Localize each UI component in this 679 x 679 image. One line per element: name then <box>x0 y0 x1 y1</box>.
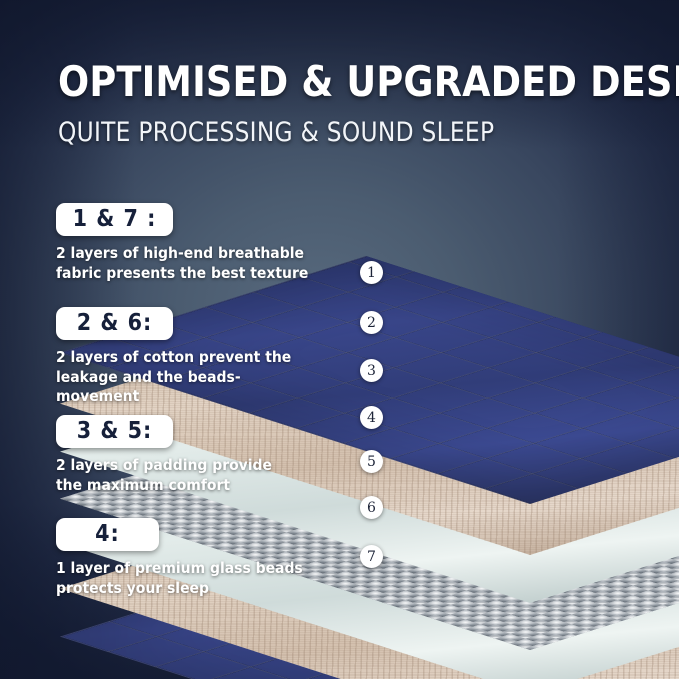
layer-badge-3: 3 <box>360 359 383 382</box>
layer-badge-5: 5 <box>360 450 383 473</box>
infographic-canvas: 1 2 3 4 5 6 7 OPTIMISED & UPGRADED DESIG… <box>0 0 679 679</box>
layer-badge-7-number: 7 <box>367 550 376 564</box>
layer-number-badges: 1 2 3 4 5 6 7 <box>0 0 679 679</box>
layer-badge-2: 2 <box>360 311 383 334</box>
layer-badge-5-number: 5 <box>367 455 376 469</box>
layer-badge-6-number: 6 <box>367 501 376 515</box>
layer-badge-4-number: 4 <box>367 411 376 425</box>
layer-badge-3-number: 3 <box>367 364 376 378</box>
layer-badge-6: 6 <box>360 496 383 519</box>
layer-badge-1-number: 1 <box>367 266 376 280</box>
layer-badge-4: 4 <box>360 406 383 429</box>
layer-badge-2-number: 2 <box>367 316 376 330</box>
layer-badge-1: 1 <box>360 261 383 284</box>
layer-badge-7: 7 <box>360 545 383 568</box>
